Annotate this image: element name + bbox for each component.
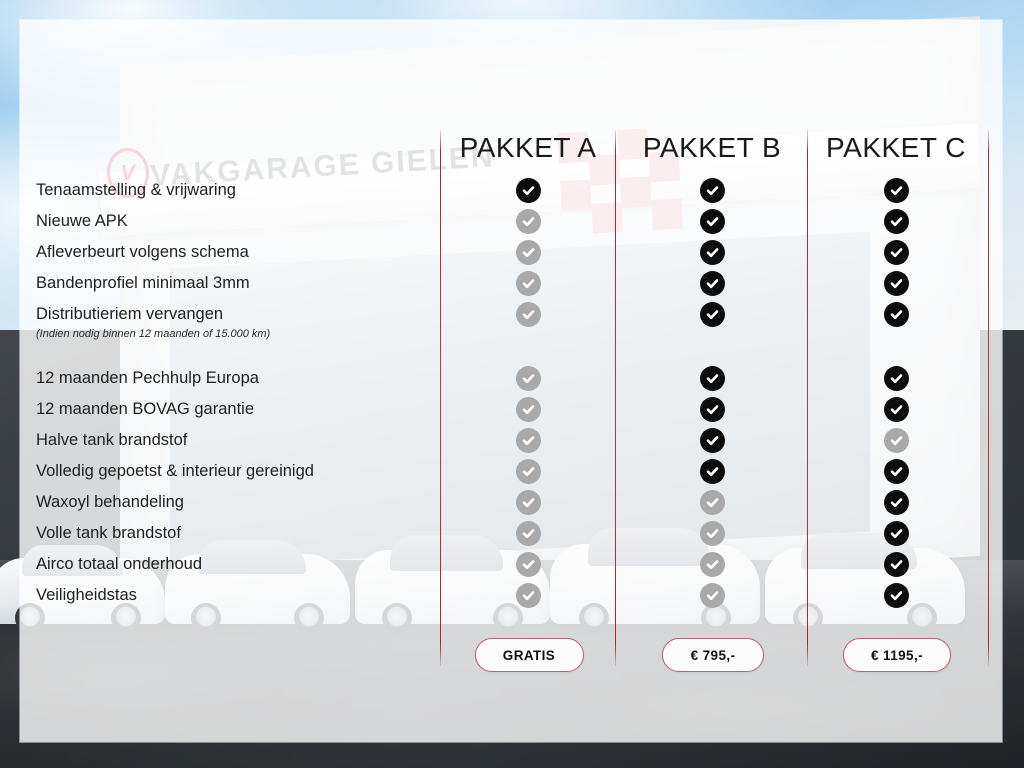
check-cell (498, 206, 558, 237)
check-included-icon (884, 583, 909, 608)
check-cell (682, 518, 742, 549)
check-cell (682, 425, 742, 456)
check-cell (498, 394, 558, 425)
check-cell (682, 206, 742, 237)
package-header-c: PAKKET C (806, 132, 986, 164)
column-divider-1 (440, 130, 441, 666)
check-excluded-icon (516, 428, 541, 453)
check-included-icon (884, 209, 909, 234)
price-pill-a[interactable]: GRATIS (475, 638, 584, 672)
check-excluded-icon (516, 583, 541, 608)
check-cell (866, 363, 926, 394)
check-cell (498, 175, 558, 206)
feature-label: Volledig gepoetst & interieur gereinigd (36, 456, 436, 487)
check-cell (866, 549, 926, 580)
column-divider-4 (988, 130, 989, 666)
package-comparison-card: PAKKET APAKKET BPAKKET C Tenaamstelling … (20, 20, 1002, 742)
check-cell (682, 299, 742, 330)
check-cell (866, 175, 926, 206)
check-note-spacer (498, 330, 558, 341)
feature-label: 12 maanden BOVAG garantie (36, 394, 436, 425)
check-included-icon (700, 271, 725, 296)
check-cell (682, 363, 742, 394)
check-cell (866, 206, 926, 237)
check-included-icon (884, 366, 909, 391)
check-cell (498, 487, 558, 518)
check-excluded-icon (700, 552, 725, 577)
check-included-icon (884, 490, 909, 515)
check-included-icon (700, 209, 725, 234)
check-cell (866, 580, 926, 611)
check-cell (498, 518, 558, 549)
feature-label: Bandenprofiel minimaal 3mm (36, 268, 436, 299)
check-excluded-icon (516, 366, 541, 391)
check-cell (682, 580, 742, 611)
price-pill-c[interactable]: € 1195,- (843, 638, 951, 672)
feature-label: Tenaamstelling & vrijwaring (36, 175, 436, 206)
check-included-icon (884, 178, 909, 203)
column-divider-3 (807, 130, 808, 666)
package-header-a: PAKKET A (438, 132, 618, 164)
check-excluded-icon (516, 459, 541, 484)
check-excluded-icon (516, 490, 541, 515)
check-included-icon (884, 552, 909, 577)
price-pill-b[interactable]: € 795,- (662, 638, 764, 672)
check-group-gap (682, 341, 742, 363)
check-cell (866, 425, 926, 456)
column-divider-2 (615, 130, 616, 666)
check-included-icon (884, 240, 909, 265)
check-included-icon (700, 366, 725, 391)
check-excluded-icon (516, 552, 541, 577)
check-cell (498, 237, 558, 268)
check-included-icon (700, 428, 725, 453)
check-cell (682, 175, 742, 206)
check-included-icon (700, 302, 725, 327)
check-excluded-icon (516, 209, 541, 234)
feature-label: Afleverbeurt volgens schema (36, 237, 436, 268)
feature-label: Airco totaal onderhoud (36, 549, 436, 580)
check-included-icon (884, 521, 909, 546)
check-cell (498, 456, 558, 487)
feature-group-gap (36, 341, 436, 363)
check-excluded-icon (700, 521, 725, 546)
check-cell (682, 487, 742, 518)
feature-label: Halve tank brandstof (36, 425, 436, 456)
check-cell (866, 456, 926, 487)
check-cell (498, 580, 558, 611)
check-cell (682, 456, 742, 487)
check-excluded-icon (516, 302, 541, 327)
check-cell (866, 518, 926, 549)
check-included-icon (884, 397, 909, 422)
check-cell (498, 299, 558, 330)
feature-label: Distributieriem vervangen (36, 299, 436, 330)
feature-label: 12 maanden Pechhulp Europa (36, 363, 436, 394)
check-cell (498, 363, 558, 394)
feature-note: (Indien nodig binnen 12 maanden of 15.00… (36, 327, 436, 341)
check-included-icon (884, 459, 909, 484)
check-group-gap (498, 341, 558, 363)
package-header-b: PAKKET B (622, 132, 802, 164)
check-cell (498, 425, 558, 456)
check-note-spacer (866, 330, 926, 341)
feature-label: Veiligheidstas (36, 580, 436, 611)
check-cell (866, 394, 926, 425)
check-included-icon (700, 240, 725, 265)
check-excluded-icon (516, 240, 541, 265)
check-column-a (498, 175, 558, 611)
check-cell (498, 268, 558, 299)
feature-list: Tenaamstelling & vrijwaringNieuwe APKAfl… (36, 175, 436, 611)
feature-label: Waxoyl behandeling (36, 487, 436, 518)
check-excluded-icon (884, 428, 909, 453)
check-included-icon (516, 178, 541, 203)
check-included-icon (884, 271, 909, 296)
check-excluded-icon (516, 521, 541, 546)
check-cell (682, 394, 742, 425)
check-note-spacer (682, 330, 742, 341)
check-included-icon (700, 397, 725, 422)
check-cell (682, 268, 742, 299)
screenshot-stage: V VAKGARAGE GIELEN PAKKET APAKKET BPAKKE… (0, 0, 1024, 768)
check-cell (682, 549, 742, 580)
check-excluded-icon (516, 271, 541, 296)
check-column-c (866, 175, 926, 611)
check-excluded-icon (516, 397, 541, 422)
check-excluded-icon (700, 490, 725, 515)
check-cell (498, 549, 558, 580)
check-cell (866, 487, 926, 518)
check-cell (866, 299, 926, 330)
check-cell (866, 237, 926, 268)
feature-label: Volle tank brandstof (36, 518, 436, 549)
check-excluded-icon (700, 583, 725, 608)
check-included-icon (700, 459, 725, 484)
check-group-gap (866, 341, 926, 363)
check-included-icon (700, 178, 725, 203)
check-column-b (682, 175, 742, 611)
check-cell (866, 268, 926, 299)
check-cell (682, 237, 742, 268)
feature-label: Nieuwe APK (36, 206, 436, 237)
check-included-icon (884, 302, 909, 327)
